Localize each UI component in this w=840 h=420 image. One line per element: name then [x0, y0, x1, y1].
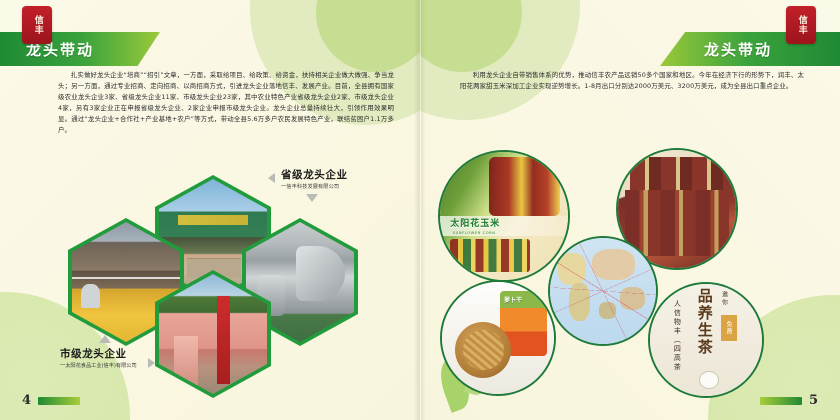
callout-subtitle: 一太阳花食品工业(信丰)有限公司: [60, 362, 137, 369]
tea-cup-graphic: [699, 371, 719, 389]
left-page: 信丰 龙头带动 扎实做好龙头企业“培商”“招引”文章，一方面，采取给项目、给政策…: [0, 0, 420, 420]
brochure-spread: 信丰 龙头带动 扎实做好龙头企业“培商”“招引”文章，一方面，采取给项目、给政策…: [0, 0, 840, 420]
circle-photo-world-map[interactable]: [548, 236, 658, 346]
callout-city-level: 市级龙头企业 一太阳花食品工业(信丰)有限公司: [60, 346, 137, 369]
tea-poster-left-line: 人信物丰（四高茶: [672, 300, 682, 372]
callout-province-level: 省级龙头企业 一信丰科技发展有限公司: [281, 167, 348, 190]
photo-world-trade-map: [550, 238, 656, 344]
decor-circle-small: [420, 0, 522, 72]
decor-circle-large: [420, 0, 580, 120]
callout-title: 市级龙头企业: [60, 346, 137, 361]
corn-product-row: [450, 239, 529, 272]
page-number-right: 5: [760, 393, 818, 408]
radish-bowl-graphic: [455, 322, 511, 378]
brand-name-cn: 太阳花玉米: [450, 216, 500, 229]
tea-poster-badge: 免费: [721, 315, 737, 341]
photo-health-tea-poster: 人信物丰（四高茶 品养生茶 邀你 免费: [650, 284, 762, 396]
right-page: 信丰 龙头带动 利用龙头企业自带销售体系的优势，推动信丰农产品远销50多个国家和…: [420, 0, 840, 420]
callout-arrow-right-icon: [148, 358, 155, 368]
callout-arrow-up-icon: [99, 335, 111, 343]
page-number-value: 4: [22, 393, 31, 408]
callout-title: 省级龙头企业: [281, 167, 348, 182]
page-number-value: 5: [809, 393, 818, 408]
tea-poster-title: 品养生茶: [695, 288, 716, 356]
callout-arrow-left-icon: [268, 173, 275, 183]
callout-arrow-down-icon: [306, 194, 318, 202]
corn-cans-graphic: [489, 157, 561, 216]
map-trade-route-lines: [550, 238, 656, 344]
right-body-text: 利用龙头企业自带销售体系的优势，推动信丰农产品远销50多个国家和地区。今年在经济…: [460, 70, 804, 92]
callout-subtitle: 一信丰科技发展有限公司: [281, 183, 348, 190]
page-number-bar: [38, 397, 80, 405]
page-number-left: 4: [22, 393, 80, 408]
circle-photo-health-tea[interactable]: 人信物丰（四高茶 品养生茶 邀你 免费: [648, 282, 764, 398]
tea-poster-right-line: 邀你: [719, 291, 728, 307]
seal-label: 信丰: [796, 15, 805, 35]
company-seal-logo: 信丰: [22, 6, 52, 44]
circle-photo-dried-radish[interactable]: 萝卜干: [440, 280, 556, 396]
page-number-bar: [760, 397, 802, 405]
brand-name-en: SUNFLOWER CORN: [453, 231, 496, 235]
seal-label: 信丰: [32, 15, 41, 35]
photo-sunflower-corn-poster: 太阳花玉米 SUNFLOWER CORN: [440, 152, 568, 280]
section-title: 龙头带动: [704, 39, 772, 60]
left-body-text: 扎实做好龙头企业“培商”“招引”文章，一方面，采取给项目、给政策、给资金，扶持相…: [58, 70, 394, 136]
company-seal-logo: 信丰: [786, 6, 816, 44]
photo-company-gate: [159, 274, 267, 394]
photo-dried-radish-product: 萝卜干: [442, 282, 554, 394]
radish-brand-name: 萝卜干: [504, 295, 522, 304]
